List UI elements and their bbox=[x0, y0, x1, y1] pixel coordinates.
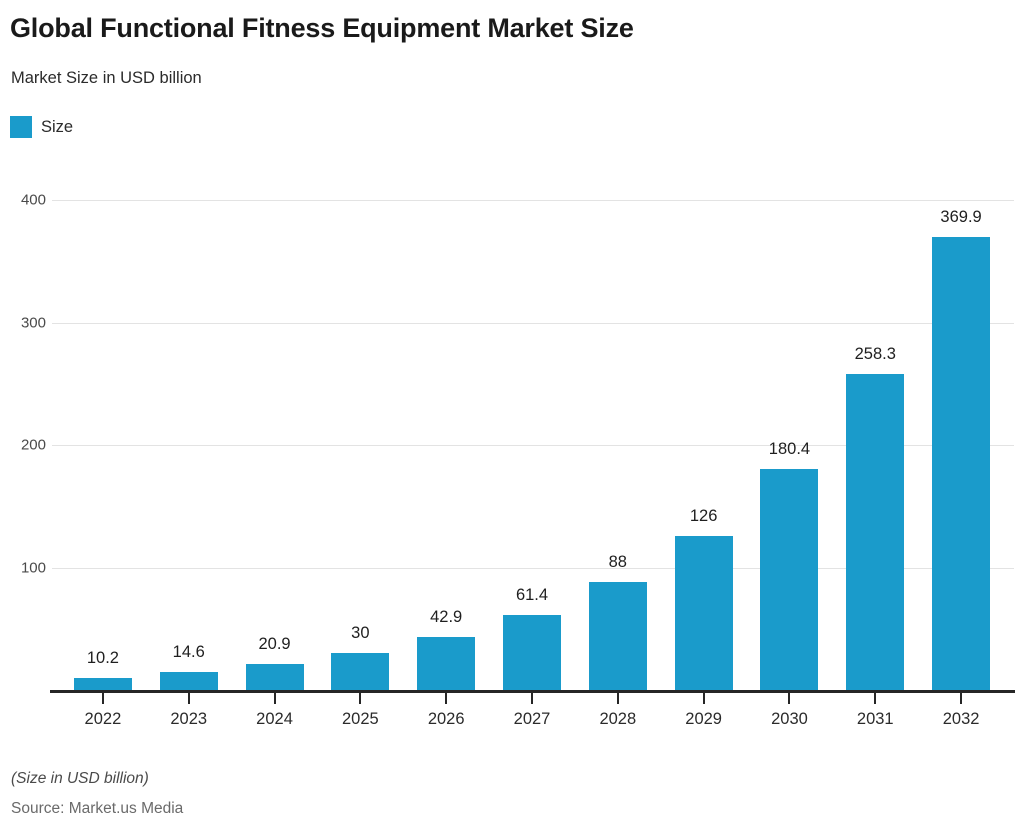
bar-value-label: 180.4 bbox=[769, 440, 810, 459]
bar[interactable] bbox=[74, 678, 132, 690]
x-axis-tick-label: 2028 bbox=[599, 710, 636, 729]
bar-value-label: 14.6 bbox=[173, 643, 205, 662]
x-axis-tick-label: 2025 bbox=[342, 710, 379, 729]
x-axis-tick-label: 2023 bbox=[170, 710, 207, 729]
footer-source: Source: Market.us Media bbox=[11, 800, 183, 818]
bar[interactable] bbox=[932, 237, 990, 690]
bar[interactable] bbox=[760, 469, 818, 690]
bar[interactable] bbox=[246, 664, 304, 690]
x-axis-tick-label: 2032 bbox=[943, 710, 980, 729]
x-axis-tick bbox=[274, 693, 276, 704]
bar-value-label: 126 bbox=[690, 507, 718, 526]
bar[interactable] bbox=[331, 653, 389, 690]
x-axis-tick-label: 2024 bbox=[256, 710, 293, 729]
x-axis-tick-label: 2031 bbox=[857, 710, 894, 729]
bar-value-label: 42.9 bbox=[430, 608, 462, 627]
x-axis-tick-label: 2030 bbox=[771, 710, 808, 729]
bar[interactable] bbox=[417, 637, 475, 690]
bars-layer: 10.2202214.6202320.9202430202542.9202661… bbox=[0, 0, 1024, 833]
bar[interactable] bbox=[675, 536, 733, 690]
bar-value-label: 10.2 bbox=[87, 649, 119, 668]
bar[interactable] bbox=[160, 672, 218, 690]
x-axis-tick bbox=[531, 693, 533, 704]
x-axis-tick bbox=[874, 693, 876, 704]
bar-value-label: 258.3 bbox=[855, 345, 896, 364]
x-axis-tick bbox=[960, 693, 962, 704]
bar[interactable] bbox=[589, 582, 647, 690]
x-axis-tick-label: 2027 bbox=[514, 710, 551, 729]
x-axis-tick-label: 2022 bbox=[85, 710, 122, 729]
bar-value-label: 88 bbox=[609, 553, 627, 572]
x-axis-tick bbox=[617, 693, 619, 704]
x-axis-tick bbox=[102, 693, 104, 704]
bar-value-label: 61.4 bbox=[516, 586, 548, 605]
x-axis-tick-label: 2029 bbox=[685, 710, 722, 729]
x-axis-tick-label: 2026 bbox=[428, 710, 465, 729]
bar-value-label: 369.9 bbox=[940, 208, 981, 227]
x-axis-tick bbox=[445, 693, 447, 704]
chart-container: Global Functional Fitness Equipment Mark… bbox=[0, 0, 1024, 833]
x-axis-tick bbox=[359, 693, 361, 704]
bar-value-label: 20.9 bbox=[258, 635, 290, 654]
bar-value-label: 30 bbox=[351, 624, 369, 643]
bar[interactable] bbox=[503, 615, 561, 690]
x-axis-tick bbox=[788, 693, 790, 704]
x-axis-tick bbox=[703, 693, 705, 704]
footer-note: (Size in USD billion) bbox=[11, 770, 149, 788]
x-axis-tick bbox=[188, 693, 190, 704]
bar[interactable] bbox=[846, 374, 904, 690]
